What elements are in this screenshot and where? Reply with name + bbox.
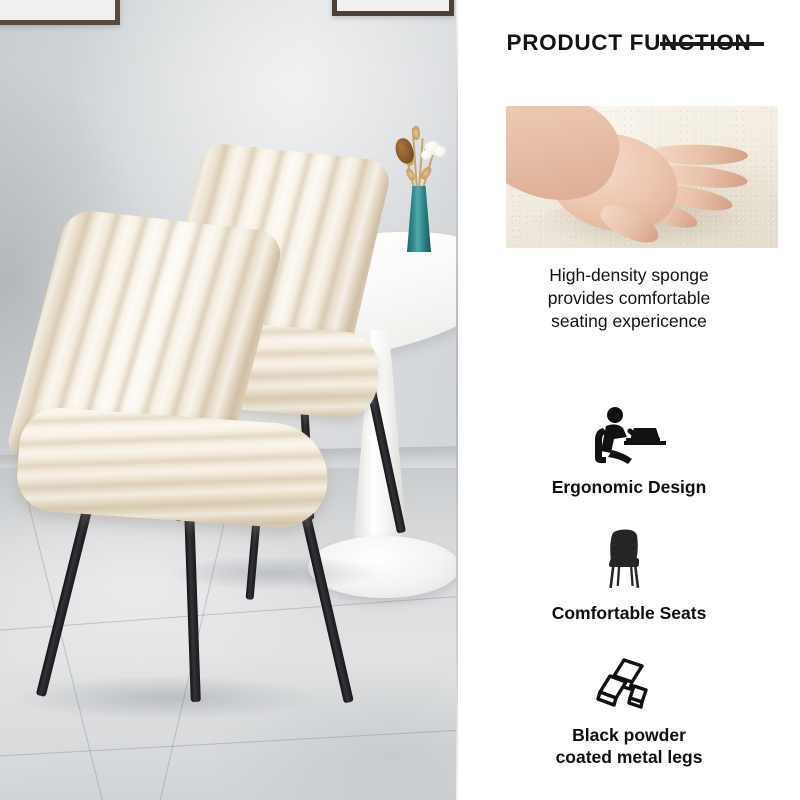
chair-seat — [15, 405, 331, 530]
caption-line: seating expericence — [458, 310, 800, 333]
stacked-metal-bars-icon — [458, 650, 800, 712]
caption-line: High-density sponge — [458, 264, 800, 287]
feature-label: Black powder coated metal legs — [458, 724, 800, 768]
feature-label-line: Black powder — [458, 724, 800, 746]
info-panel: PRODUCT FUNCTION High-density sponge pro… — [458, 0, 800, 800]
caption-line: provides comfortable — [458, 287, 800, 310]
wall-picture-frame-right — [332, 0, 454, 16]
title-accent-bar — [660, 42, 764, 46]
feature-comfortable-seats: Comfortable Seats — [458, 528, 800, 624]
feature-label: Comfortable Seats — [458, 602, 800, 624]
sponge-demo-photo — [506, 106, 778, 248]
sponge-caption: High-density sponge provides comfortable… — [458, 264, 800, 333]
product-photo — [0, 0, 458, 800]
cotton-boll — [434, 146, 446, 157]
chair-shadow — [168, 556, 378, 590]
feature-metal-legs: Black powder coated metal legs — [458, 650, 800, 768]
feature-label-line: coated metal legs — [458, 746, 800, 768]
feature-label: Ergonomic Design — [458, 476, 800, 498]
feature-label-line: Ergonomic Design — [458, 476, 800, 498]
feature-label-line: Comfortable Seats — [458, 602, 800, 624]
chair-silhouette-icon — [458, 528, 800, 590]
feature-ergonomic-design: Ergonomic Design — [458, 402, 800, 498]
seat-tufting — [15, 405, 331, 530]
cotton-boll — [421, 150, 432, 160]
person-sitting-at-desk-icon — [458, 402, 800, 464]
wall-picture-frame-left — [0, 0, 120, 25]
product-infographic: PRODUCT FUNCTION High-density sponge pro… — [0, 0, 800, 800]
chair-shadow — [18, 676, 318, 720]
